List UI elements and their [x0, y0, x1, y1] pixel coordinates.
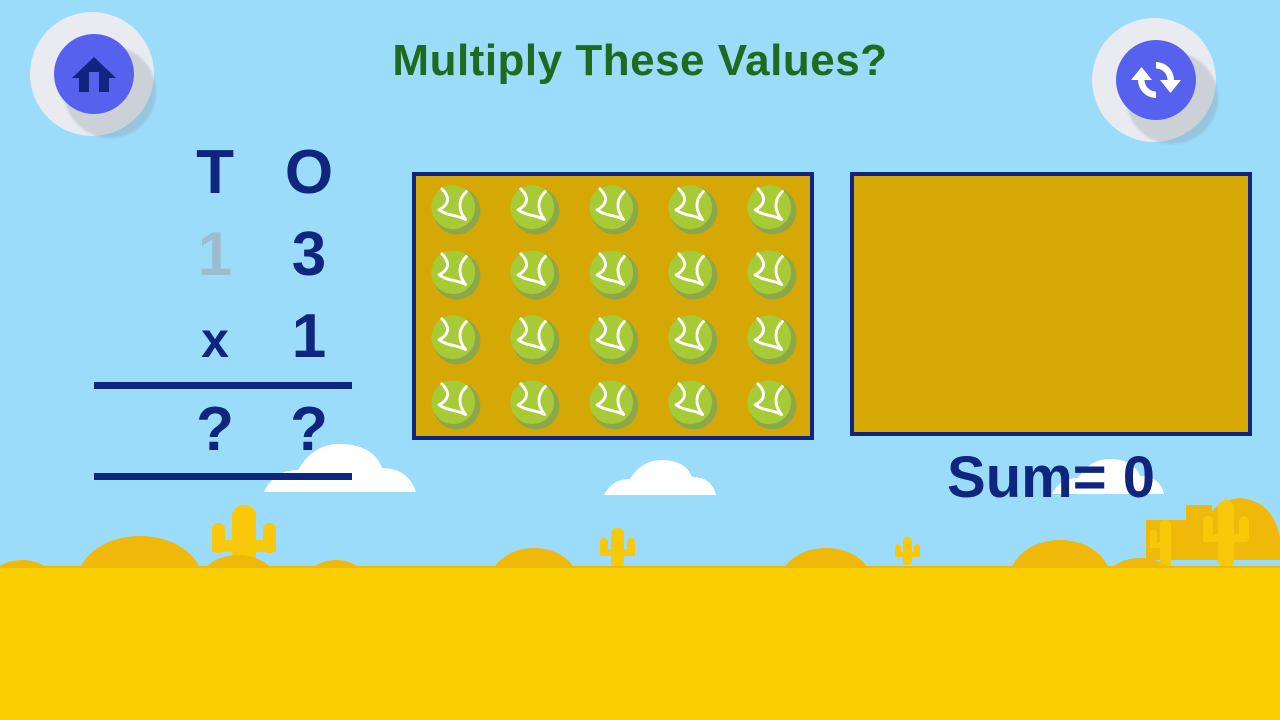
header-tens: T	[168, 132, 262, 214]
reset-button-inner	[1116, 40, 1196, 120]
multiplier-row: x 1	[88, 296, 356, 378]
answer-tens-slot[interactable]: ?	[168, 389, 262, 471]
tennis-ball-icon[interactable]	[664, 376, 720, 432]
multiplicand-ones-digit: 3	[262, 214, 356, 296]
sum-total-label: Sum= 0	[850, 444, 1252, 511]
tennis-ball-icon[interactable]	[743, 311, 799, 367]
home-button-inner	[54, 34, 134, 114]
column-headers-row: T O	[88, 132, 356, 214]
home-icon	[68, 48, 120, 100]
tennis-ball-icon[interactable]	[585, 376, 641, 432]
multiplication-problem: T O 1 3 x 1 ? ?	[88, 132, 356, 480]
home-button[interactable]	[30, 12, 158, 140]
tennis-ball-icon[interactable]	[506, 376, 562, 432]
tennis-ball-icon[interactable]	[427, 246, 483, 302]
multiplicand-row: 1 3	[88, 214, 356, 296]
reset-button[interactable]	[1092, 18, 1220, 146]
tennis-ball-icon[interactable]	[506, 181, 562, 237]
multiplicand-tens-digit: 1	[168, 214, 262, 296]
answer-drop-zone[interactable]	[850, 172, 1252, 436]
tennis-ball-icon[interactable]	[743, 246, 799, 302]
multiplier-ones-digit: 1	[262, 296, 356, 378]
tennis-ball-icon[interactable]	[427, 311, 483, 367]
tennis-ball-icon[interactable]	[664, 311, 720, 367]
tennis-ball-icon[interactable]	[664, 181, 720, 237]
refresh-icon	[1129, 53, 1183, 107]
page-title: Multiply These Values?	[0, 36, 1280, 86]
answer-row[interactable]: ? ?	[88, 389, 356, 471]
tennis-ball-icon[interactable]	[743, 376, 799, 432]
ground	[0, 568, 1280, 720]
tennis-ball-icon[interactable]	[585, 246, 641, 302]
header-ones: O	[262, 132, 356, 214]
tennis-ball-icon[interactable]	[506, 311, 562, 367]
problem-rule-bottom	[94, 473, 352, 480]
multiply-operator: x	[168, 299, 262, 381]
tennis-ball-icon[interactable]	[664, 246, 720, 302]
tennis-ball-icon[interactable]	[427, 376, 483, 432]
tennis-ball-icon[interactable]	[743, 181, 799, 237]
tennis-ball-grid	[416, 176, 810, 436]
tennis-balls-source-box[interactable]	[412, 172, 814, 440]
tennis-ball-icon[interactable]	[506, 246, 562, 302]
tennis-ball-icon[interactable]	[585, 311, 641, 367]
problem-rule-top	[94, 382, 352, 389]
tennis-ball-icon[interactable]	[585, 181, 641, 237]
answer-ones-slot[interactable]: ?	[262, 389, 356, 471]
tennis-ball-icon[interactable]	[427, 181, 483, 237]
